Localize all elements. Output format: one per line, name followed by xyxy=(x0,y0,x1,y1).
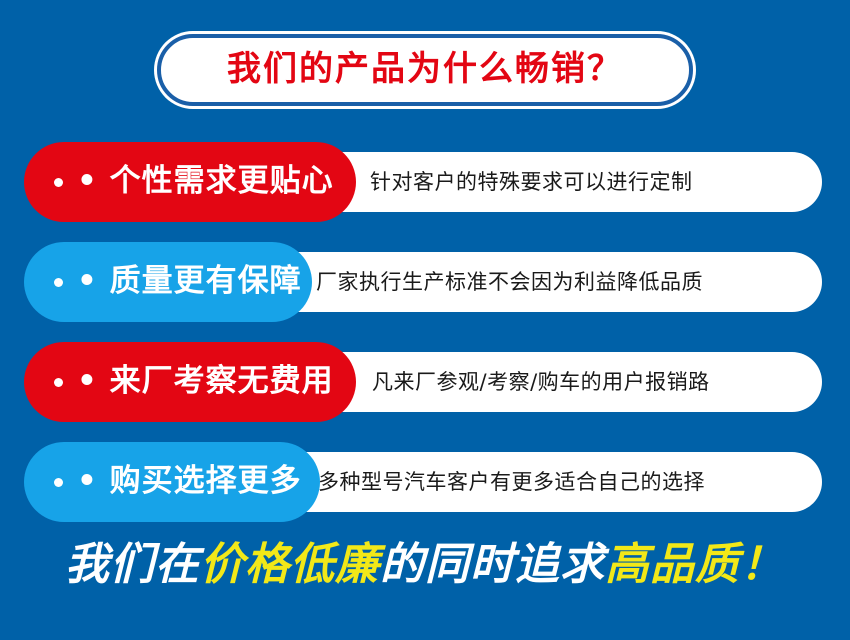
feature-tag-label: • 购买选择更多 xyxy=(77,466,302,497)
feature-description: 厂家执行生产标准不会因为利益降低品质 xyxy=(316,252,703,312)
feature-row: 凡来厂参观/考察/购车的用户报销路 • 来厂考察无费用 xyxy=(0,340,850,440)
bullet-dot-icon xyxy=(54,478,63,487)
feature-list: 针对客户的特殊要求可以进行定制 • 个性需求更贴心 厂家执行生产标准不会因为利益… xyxy=(0,140,850,540)
feature-tag-label: • 来厂考察无费用 xyxy=(77,366,334,397)
slogan-highlight-price: 价格低廉 xyxy=(200,539,380,590)
feature-tag-pill: • 个性需求更贴心 xyxy=(24,142,356,222)
bullet-dot-icon xyxy=(54,278,63,287)
page-title: 我们的产品为什么畅销？ xyxy=(227,52,623,86)
feature-description: 针对客户的特殊要求可以进行定制 xyxy=(370,152,693,212)
bottom-slogan: 我们在价格低廉的同时追求高品质！ xyxy=(0,543,850,587)
feature-row: 多种型号汽车客户有更多适合自己的选择 • 购买选择更多 xyxy=(0,440,850,540)
feature-tag-pill: • 质量更有保障 xyxy=(24,242,312,322)
promo-banner: 我们的产品为什么畅销？ 针对客户的特殊要求可以进行定制 • 个性需求更贴心 厂家… xyxy=(0,0,850,640)
feature-row: 针对客户的特殊要求可以进行定制 • 个性需求更贴心 xyxy=(0,140,850,240)
slogan-highlight-quality: 高品质！ xyxy=(605,539,785,590)
feature-tag-pill: • 来厂考察无费用 xyxy=(24,342,356,422)
bullet-dot-icon xyxy=(54,378,63,387)
feature-tag-label: • 质量更有保障 xyxy=(77,266,302,297)
feature-description: 多种型号汽车客户有更多适合自己的选择 xyxy=(318,452,705,512)
feature-row: 厂家执行生产标准不会因为利益降低品质 • 质量更有保障 xyxy=(0,240,850,340)
title-pill: 我们的产品为什么畅销？ xyxy=(157,34,693,106)
feature-tag-pill: • 购买选择更多 xyxy=(24,442,320,522)
bullet-dot-icon xyxy=(54,178,63,187)
slogan-part-3: 的同时追求 xyxy=(380,539,605,590)
feature-description: 凡来厂参观/考察/购车的用户报销路 xyxy=(372,352,710,412)
feature-tag-label: • 个性需求更贴心 xyxy=(77,166,334,197)
slogan-part-1: 我们在 xyxy=(65,539,200,590)
title-section: 我们的产品为什么畅销？ xyxy=(0,34,850,106)
